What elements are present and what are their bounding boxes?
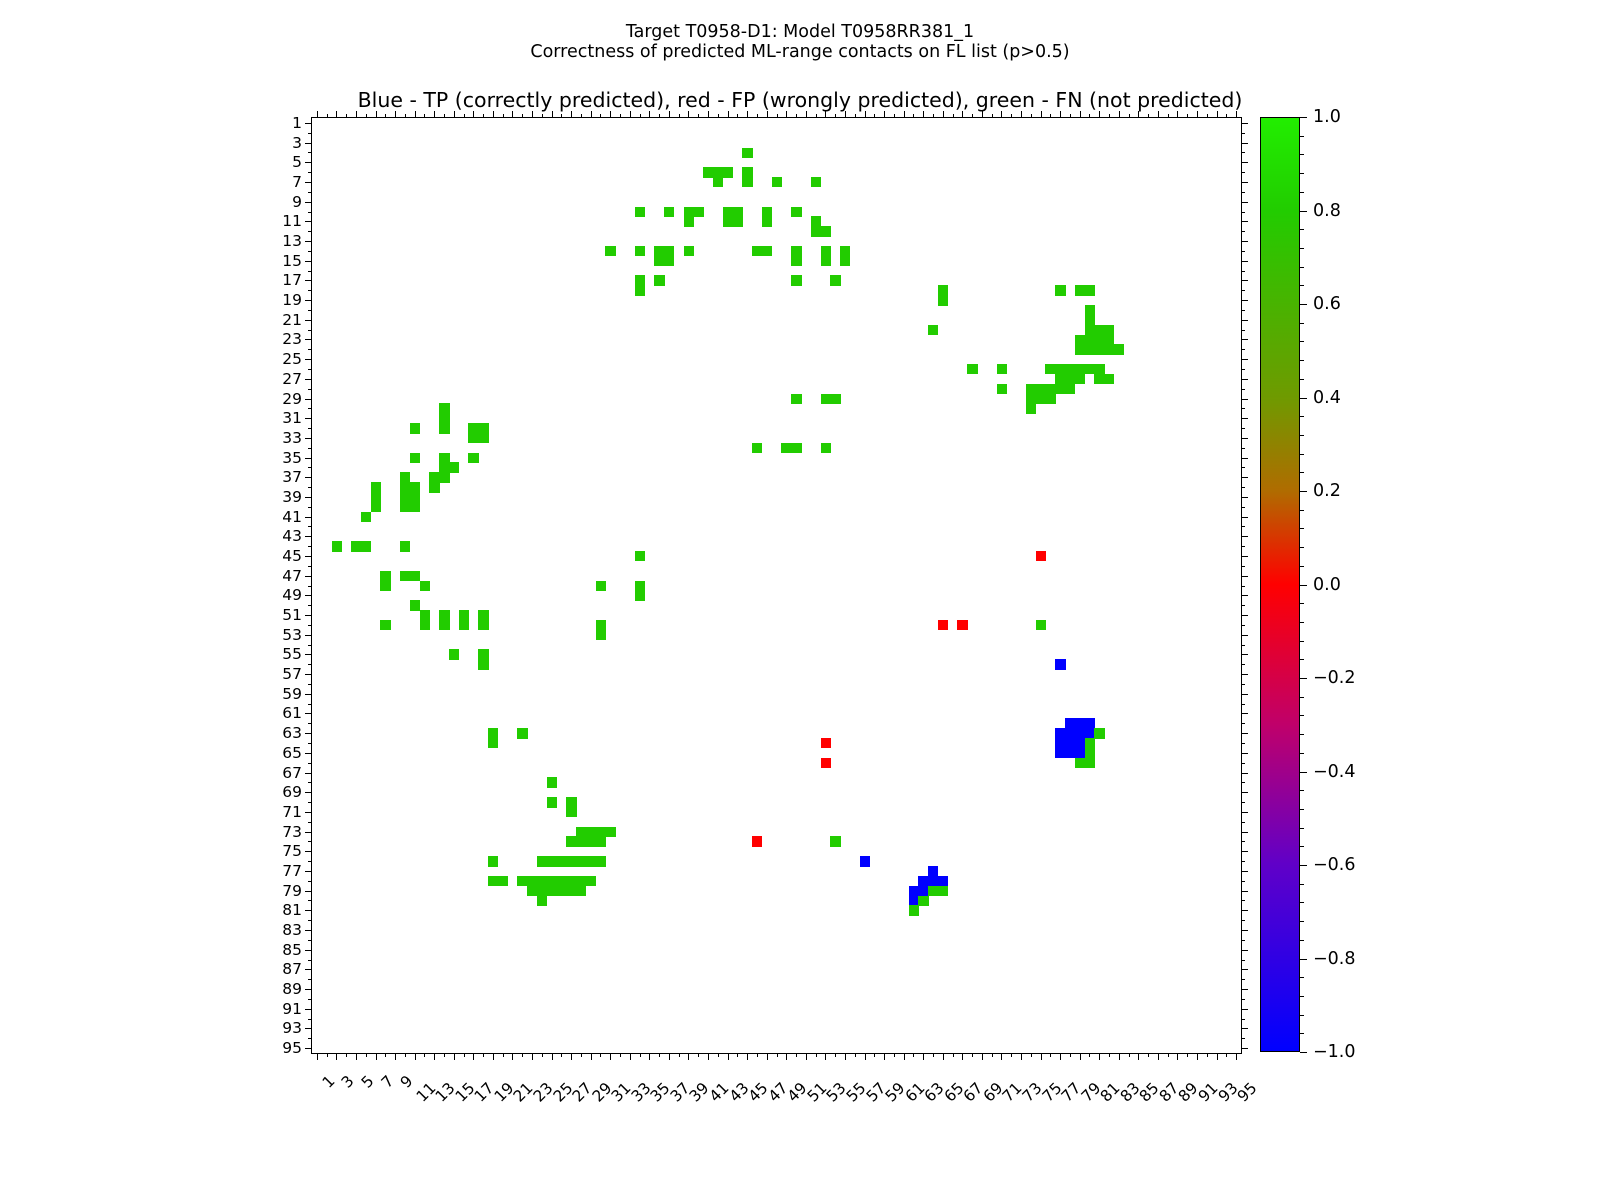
- x-tick-top: [385, 114, 386, 118]
- contact-cell-fn: [811, 177, 821, 187]
- colorbar-tick: [1300, 454, 1304, 455]
- x-tick: [1070, 1053, 1071, 1057]
- x-tick-top: [1109, 114, 1110, 118]
- colorbar-tick-label: −0.6: [1313, 855, 1356, 875]
- colorbar-tick: [1300, 379, 1304, 380]
- colorbar-tick: [1300, 641, 1304, 642]
- y-tick-right: [1241, 999, 1245, 1000]
- y-tick: [305, 1028, 312, 1029]
- y-tick: [308, 782, 312, 783]
- colorbar-tick: [1300, 734, 1304, 735]
- y-tick-right: [1241, 359, 1248, 360]
- colorbar-tick: [1300, 809, 1304, 810]
- contact-cell-fn: [635, 207, 645, 217]
- colorbar-tick: [1300, 753, 1304, 754]
- x-tick-top: [659, 114, 660, 118]
- colorbar[interactable]: 1.00.80.60.40.20.0−0.2−0.4−0.6−0.8−1.0: [1260, 117, 1300, 1052]
- contact-cell-fn: [478, 620, 488, 630]
- contact-cell-fn: [596, 856, 606, 866]
- x-tick-top: [1138, 111, 1139, 118]
- y-tick: [308, 920, 312, 921]
- y-tick-right: [1241, 891, 1248, 892]
- contact-cell-fn: [596, 630, 606, 640]
- x-tick: [874, 1053, 875, 1057]
- y-tick: [308, 881, 312, 882]
- x-tick-top: [816, 114, 817, 118]
- x-tick: [522, 1053, 523, 1057]
- contact-cell-fn: [762, 216, 772, 226]
- y-tick-label: 81: [282, 901, 302, 919]
- contact-cell-fn: [1094, 728, 1104, 738]
- contact-cell-fn: [1104, 374, 1114, 384]
- x-tick: [845, 1053, 846, 1060]
- x-tick-top: [512, 111, 513, 118]
- x-tick-top: [395, 111, 396, 118]
- y-tick-label: 45: [282, 547, 302, 565]
- y-tick-right: [1241, 940, 1245, 941]
- x-tick-top: [855, 114, 856, 118]
- colorbar-tick: [1300, 566, 1304, 567]
- colorbar-tick: [1300, 828, 1304, 829]
- x-tick: [600, 1053, 601, 1057]
- y-tick-label: 69: [282, 783, 302, 801]
- colorbar-tick: [1300, 491, 1307, 492]
- y-tick-right: [1241, 477, 1248, 478]
- y-tick: [305, 1048, 312, 1049]
- colorbar-tick-label: 0.8: [1313, 201, 1341, 221]
- y-tick: [305, 615, 312, 616]
- contact-cell-fn: [1045, 394, 1055, 404]
- x-tick-top: [904, 111, 905, 118]
- y-tick: [308, 664, 312, 665]
- x-tick: [542, 1053, 543, 1057]
- contact-cell-fn: [664, 256, 674, 266]
- colorbar-tick: [1300, 772, 1307, 773]
- y-tick-right: [1241, 1019, 1245, 1020]
- y-tick-right: [1241, 192, 1245, 193]
- x-tick-top: [464, 114, 465, 118]
- x-tick-top: [669, 111, 670, 118]
- colorbar-tick: [1300, 622, 1304, 623]
- y-tick-label: 65: [282, 744, 302, 762]
- contact-cell-fn: [635, 551, 645, 561]
- y-tick-right: [1241, 310, 1245, 311]
- y-tick: [308, 487, 312, 488]
- y-tick: [308, 310, 312, 311]
- x-tick-top: [346, 114, 347, 118]
- x-tick: [796, 1053, 797, 1057]
- colorbar-tick-label: 0.0: [1313, 575, 1341, 595]
- y-tick-label: 1: [292, 114, 302, 132]
- colorbar-tick-label: −1.0: [1313, 1042, 1356, 1062]
- contact-map-plot-area[interactable]: 1357911131517192123252729313335373941434…: [311, 117, 1242, 1054]
- y-tick-right: [1241, 861, 1245, 862]
- y-tick: [305, 556, 312, 557]
- y-tick-right: [1241, 143, 1248, 144]
- y-tick: [305, 851, 312, 852]
- y-tick: [308, 212, 312, 213]
- y-tick-label: 21: [282, 311, 302, 329]
- x-tick-top: [1001, 111, 1002, 118]
- y-tick: [305, 713, 312, 714]
- y-tick-right: [1241, 812, 1248, 813]
- y-tick-label: 89: [282, 980, 302, 998]
- y-tick-right: [1241, 733, 1248, 734]
- y-tick: [308, 251, 312, 252]
- y-tick-label: 9: [292, 193, 302, 211]
- x-tick-top: [1129, 114, 1130, 118]
- x-tick: [1041, 1053, 1042, 1060]
- y-tick: [308, 389, 312, 390]
- x-tick: [943, 1053, 944, 1060]
- y-tick-label: 87: [282, 960, 302, 978]
- y-tick-label: 15: [282, 252, 302, 270]
- x-tick-top: [747, 111, 748, 118]
- contact-cell-fn: [772, 177, 782, 187]
- x-tick-top: [708, 111, 709, 118]
- y-tick: [308, 172, 312, 173]
- y-tick-right: [1241, 674, 1248, 675]
- y-tick-label: 53: [282, 626, 302, 644]
- contact-cell-fn: [1026, 403, 1036, 413]
- y-tick-right: [1241, 182, 1248, 183]
- colorbar-tick: [1300, 846, 1304, 847]
- x-tick: [444, 1053, 445, 1057]
- y-tick-label: 5: [292, 153, 302, 171]
- x-tick-top: [825, 111, 826, 118]
- contact-cell-fn: [997, 364, 1007, 374]
- y-tick: [308, 979, 312, 980]
- y-tick: [308, 349, 312, 350]
- y-tick-right: [1241, 458, 1248, 459]
- contact-cell-fn: [449, 462, 459, 472]
- x-tick-top: [1236, 111, 1237, 118]
- x-tick-top: [561, 114, 562, 118]
- y-tick-label: 83: [282, 921, 302, 939]
- contact-cell-fp: [938, 620, 948, 630]
- y-tick-right: [1241, 635, 1248, 636]
- y-tick: [305, 202, 312, 203]
- y-tick: [305, 910, 312, 911]
- y-tick-label: 13: [282, 232, 302, 250]
- contact-cell-fn: [566, 807, 576, 817]
- x-tick: [982, 1053, 983, 1060]
- x-tick-top: [933, 114, 934, 118]
- x-tick-top: [1148, 114, 1149, 118]
- y-tick-right: [1241, 467, 1245, 468]
- colorbar-tick: [1300, 959, 1307, 960]
- contact-cell-fn: [635, 246, 645, 256]
- y-tick-right: [1241, 881, 1245, 882]
- x-tick: [1217, 1053, 1218, 1060]
- x-tick-top: [473, 111, 474, 118]
- x-tick-top: [1089, 114, 1090, 118]
- contact-cell-fp: [752, 836, 762, 846]
- x-tick-top: [718, 114, 719, 118]
- x-tick-top: [1041, 111, 1042, 118]
- y-tick: [305, 635, 312, 636]
- contact-cell-fn: [1055, 285, 1065, 295]
- y-tick: [305, 812, 312, 813]
- y-tick-right: [1241, 802, 1245, 803]
- contact-cell-fn: [361, 541, 371, 551]
- x-tick-top: [1021, 111, 1022, 118]
- x-tick: [865, 1053, 866, 1060]
- contact-cell-fn: [1075, 374, 1085, 384]
- colorbar-tick: [1300, 902, 1304, 903]
- x-tick-label: 95: [1234, 1079, 1261, 1106]
- y-tick-label: 49: [282, 586, 302, 604]
- y-tick: [308, 231, 312, 232]
- contact-cell-fn: [752, 443, 762, 453]
- x-tick: [591, 1053, 592, 1060]
- x-tick-top: [434, 111, 435, 118]
- y-tick-right: [1241, 438, 1248, 439]
- x-tick: [767, 1053, 768, 1060]
- colorbar-tick: [1300, 996, 1304, 997]
- x-tick-top: [1011, 114, 1012, 118]
- x-tick-top: [845, 111, 846, 118]
- x-tick-top: [356, 111, 357, 118]
- y-tick-right: [1241, 654, 1248, 655]
- x-tick: [688, 1053, 689, 1060]
- y-tick-right: [1241, 330, 1245, 331]
- y-tick: [308, 1038, 312, 1039]
- contact-cell-fn: [791, 394, 801, 404]
- y-tick: [305, 792, 312, 793]
- colorbar-tick: [1300, 211, 1307, 212]
- y-tick-right: [1241, 251, 1245, 252]
- x-tick: [610, 1053, 611, 1060]
- y-tick-right: [1241, 832, 1248, 833]
- x-tick: [698, 1053, 699, 1057]
- colorbar-tick-label: 0.4: [1313, 388, 1341, 408]
- contact-cell-fn: [488, 856, 498, 866]
- contact-cell-fn: [918, 896, 928, 906]
- y-tick-right: [1241, 526, 1245, 527]
- y-tick-right: [1241, 576, 1248, 577]
- x-tick: [483, 1053, 484, 1057]
- y-tick: [305, 221, 312, 222]
- colorbar-tick: [1300, 678, 1307, 679]
- x-tick-top: [1050, 114, 1051, 118]
- colorbar-tick: [1300, 416, 1304, 417]
- contact-cell-fn: [967, 364, 977, 374]
- x-tick: [1119, 1053, 1120, 1060]
- x-tick: [972, 1053, 973, 1057]
- colorbar-tick: [1300, 715, 1304, 716]
- contact-cell-fn: [664, 207, 674, 217]
- x-tick-top: [581, 114, 582, 118]
- y-tick: [305, 418, 312, 419]
- x-tick-top: [943, 111, 944, 118]
- y-tick: [308, 940, 312, 941]
- x-tick: [1109, 1053, 1110, 1057]
- x-tick: [493, 1053, 494, 1060]
- contact-cell-fn: [410, 423, 420, 433]
- contact-cell-fn: [830, 275, 840, 285]
- y-tick-right: [1241, 133, 1245, 134]
- contact-cell-fn: [654, 275, 664, 285]
- x-tick-top: [522, 114, 523, 118]
- y-tick-label: 95: [282, 1039, 302, 1057]
- contact-cell-fn: [547, 777, 557, 787]
- y-tick: [308, 192, 312, 193]
- x-tick-top: [649, 111, 650, 118]
- x-tick-top: [336, 111, 337, 118]
- x-tick: [1148, 1053, 1149, 1057]
- contact-cell-fn: [478, 659, 488, 669]
- y-tick-right: [1241, 910, 1248, 911]
- x-tick-top: [640, 114, 641, 118]
- contact-cell-fn: [586, 876, 596, 886]
- y-tick-right: [1241, 930, 1248, 931]
- contact-cell-fn: [830, 836, 840, 846]
- colorbar-tick: [1300, 173, 1304, 174]
- x-tick-top: [679, 114, 680, 118]
- y-tick-right: [1241, 123, 1248, 124]
- y-tick-right: [1241, 408, 1245, 409]
- y-tick-right: [1241, 792, 1248, 793]
- x-tick: [385, 1053, 386, 1057]
- x-tick: [434, 1053, 435, 1060]
- x-tick-top: [1217, 111, 1218, 118]
- contact-cell-fp: [957, 620, 967, 630]
- colorbar-tick: [1300, 117, 1307, 118]
- colorbar-tick: [1300, 697, 1304, 698]
- y-tick-right: [1241, 379, 1248, 380]
- y-tick-label: 57: [282, 665, 302, 683]
- contact-cell-fn: [791, 207, 801, 217]
- x-tick: [1207, 1053, 1208, 1057]
- x-tick: [649, 1053, 650, 1060]
- contact-cell-fn: [596, 836, 606, 846]
- figure-root: Target T0958-D1: Model T0958RR381_1 Corr…: [0, 0, 1600, 1200]
- y-tick-right: [1241, 369, 1245, 370]
- contact-cell-fn: [997, 384, 1007, 394]
- x-tick: [933, 1053, 934, 1057]
- contact-cell-fp: [1036, 551, 1046, 561]
- x-tick: [728, 1053, 729, 1060]
- x-tick: [336, 1053, 337, 1060]
- y-tick: [308, 271, 312, 272]
- y-tick-label: 17: [282, 271, 302, 289]
- colorbar-tick: [1300, 585, 1307, 586]
- y-tick-label: 73: [282, 823, 302, 841]
- y-tick-label: 85: [282, 941, 302, 959]
- y-tick: [305, 438, 312, 439]
- y-tick: [308, 723, 312, 724]
- y-tick-right: [1241, 418, 1248, 419]
- colorbar-tick-label: 1.0: [1313, 107, 1341, 127]
- colorbar-tick: [1300, 304, 1307, 305]
- contact-cell-fn: [723, 167, 733, 177]
- contact-cell-fn: [371, 502, 381, 512]
- x-tick-top: [953, 114, 954, 118]
- x-tick: [1129, 1053, 1130, 1057]
- x-tick-top: [962, 111, 963, 118]
- x-tick-label: 9: [397, 1072, 417, 1092]
- y-tick-right: [1241, 586, 1245, 587]
- y-tick-right: [1241, 743, 1245, 744]
- y-tick: [305, 871, 312, 872]
- contact-cell-fn: [478, 433, 488, 443]
- x-tick: [1158, 1053, 1159, 1060]
- x-tick: [1080, 1053, 1081, 1060]
- y-tick-label: 55: [282, 645, 302, 663]
- colorbar-tick: [1300, 510, 1304, 511]
- x-tick-top: [884, 111, 885, 118]
- x-tick-top: [1226, 114, 1227, 118]
- y-tick-right: [1241, 152, 1245, 153]
- y-tick-right: [1241, 645, 1245, 646]
- colorbar-tick: [1300, 977, 1304, 978]
- x-tick-top: [366, 114, 367, 118]
- x-tick-top: [865, 111, 866, 118]
- y-tick: [305, 359, 312, 360]
- x-tick-top: [835, 114, 836, 118]
- y-tick-label: 43: [282, 527, 302, 545]
- x-tick: [1187, 1053, 1188, 1057]
- y-tick-right: [1241, 487, 1245, 488]
- x-tick: [415, 1053, 416, 1060]
- x-tick: [454, 1053, 455, 1060]
- y-tick-right: [1241, 920, 1245, 921]
- y-tick-right: [1241, 969, 1248, 970]
- x-tick: [1050, 1053, 1051, 1057]
- x-tick-top: [424, 114, 425, 118]
- y-tick-right: [1241, 595, 1248, 596]
- y-tick-right: [1241, 615, 1248, 616]
- x-tick: [962, 1053, 963, 1060]
- y-tick: [308, 546, 312, 547]
- x-tick-top: [532, 111, 533, 118]
- contact-cell-fn: [410, 502, 420, 512]
- y-tick-label: 79: [282, 882, 302, 900]
- x-tick-top: [1197, 111, 1198, 118]
- y-tick-right: [1241, 320, 1248, 321]
- y-tick-right: [1241, 261, 1248, 262]
- colorbar-tick: [1300, 136, 1304, 137]
- contact-cell-tp: [1055, 659, 1065, 669]
- contact-cell-fn: [938, 295, 948, 305]
- x-tick: [1089, 1053, 1090, 1057]
- contact-cell-fn: [791, 275, 801, 285]
- y-tick: [305, 517, 312, 518]
- x-tick: [786, 1053, 787, 1060]
- y-tick-right: [1241, 536, 1248, 537]
- contact-cell-fn: [830, 394, 840, 404]
- y-tick: [305, 123, 312, 124]
- x-tick-top: [571, 111, 572, 118]
- x-tick-top: [1119, 111, 1120, 118]
- y-tick-right: [1241, 713, 1248, 714]
- x-tick-top: [405, 114, 406, 118]
- colorbar-tick: [1300, 341, 1304, 342]
- contact-cell-fn: [449, 649, 459, 659]
- y-tick: [308, 625, 312, 626]
- y-tick: [308, 428, 312, 429]
- x-tick: [503, 1053, 504, 1057]
- y-tick-right: [1241, 507, 1245, 508]
- x-tick-label: 3: [338, 1072, 358, 1092]
- x-tick-top: [913, 114, 914, 118]
- x-tick-top: [444, 114, 445, 118]
- colorbar-tick-label: −0.8: [1313, 949, 1356, 969]
- contact-cell-fn: [537, 896, 547, 906]
- x-tick: [424, 1053, 425, 1057]
- contact-cell-fp: [821, 758, 831, 768]
